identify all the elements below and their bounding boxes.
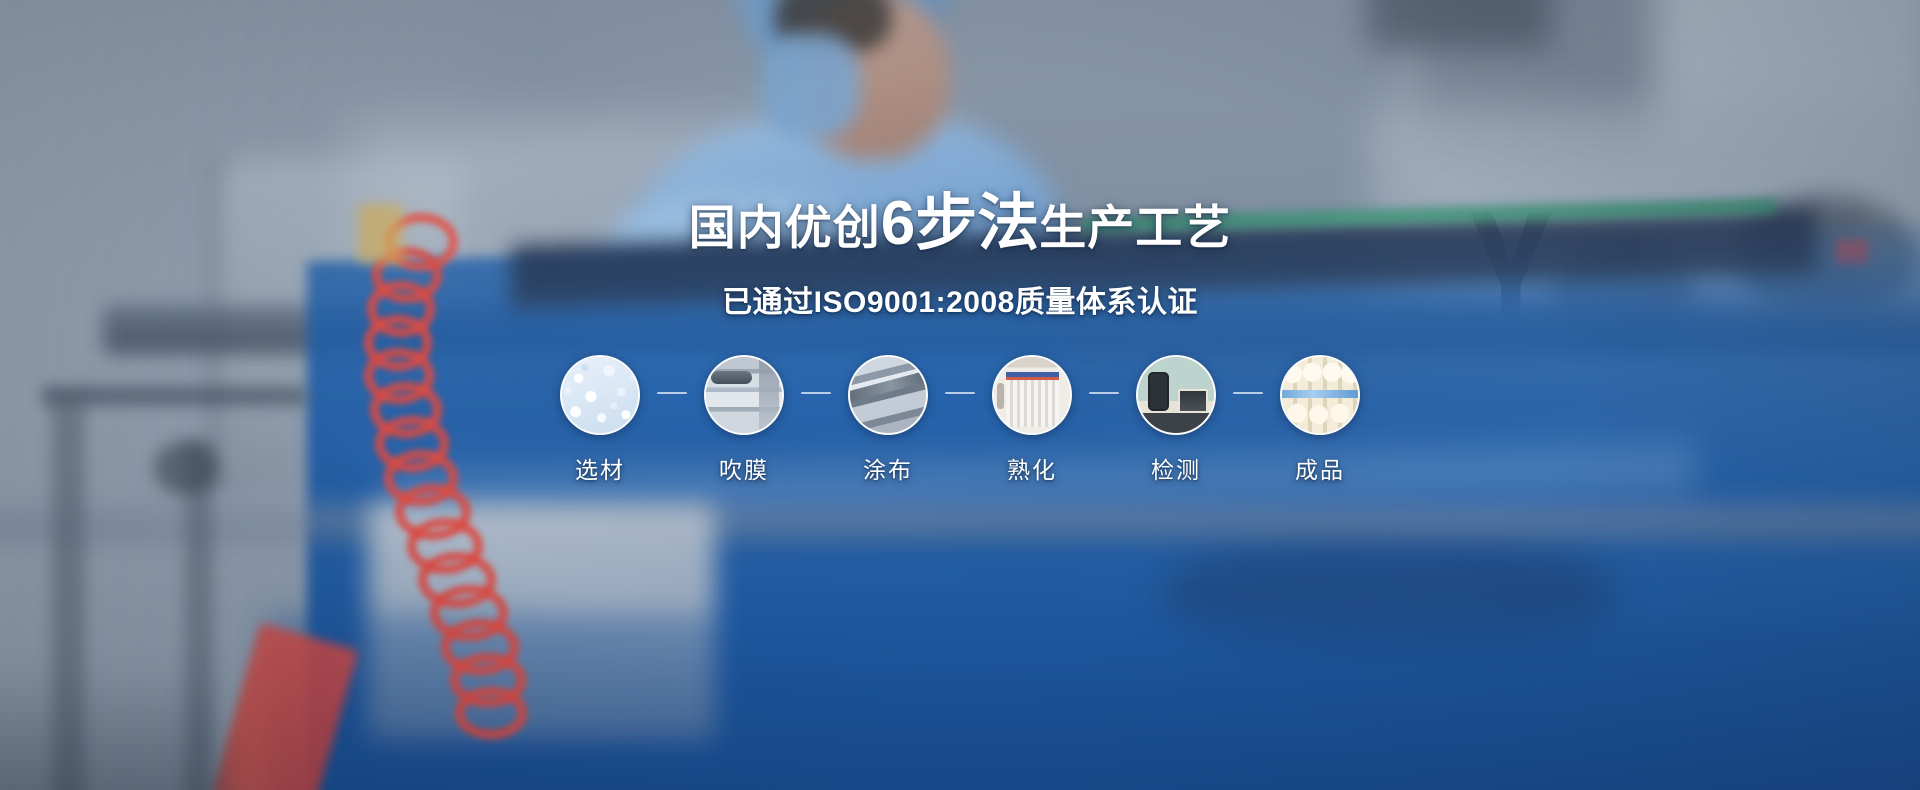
process-step-3-label: 涂布 [863,451,913,485]
finished-product-image [1282,357,1358,433]
step-connector-3 [938,355,982,431]
curing-room-thumb[interactable] [992,355,1072,435]
step-connector-1 [650,355,694,431]
pellets-image [562,357,638,433]
process-step-4-label: 熟化 [1007,451,1057,485]
headline-emphasis: 6步法 [881,189,1039,258]
process-step-3[interactable]: 涂布 [838,355,938,485]
headline-suffix: 生产工艺 [1039,201,1231,254]
coating-machine-thumb[interactable] [848,355,928,435]
process-step-1[interactable]: 选材 [550,355,650,485]
process-step-5-label: 检测 [1151,451,1201,485]
process-step-6[interactable]: 成品 [1270,355,1370,485]
process-step-2-label: 吹膜 [719,451,769,485]
step-connector-5 [1226,355,1270,431]
plastic-pellets-thumb[interactable] [560,355,640,435]
finished-film-rolls-thumb[interactable] [1280,355,1360,435]
process-steps: 选材 吹膜 涂布 熟化 [550,355,1370,485]
process-step-4[interactable]: 熟化 [982,355,1082,485]
banner-subheadline: 已通过ISO9001:2008质量体系认证 [722,277,1198,321]
process-step-5[interactable]: 检测 [1126,355,1226,485]
headline-prefix: 国内优创 [689,201,881,254]
step-connector-2 [794,355,838,431]
process-step-6-label: 成品 [1295,451,1345,485]
process-step-1-label: 选材 [575,451,625,485]
step-connector-4 [1082,355,1126,431]
banner-headline: 国内优创6步法生产工艺 [689,193,1231,255]
coating-image [850,357,926,433]
curing-image [994,357,1070,433]
testing-image [1138,357,1214,433]
banner-content: 国内优创6步法生产工艺 已通过ISO9001:2008质量体系认证 选材 吹膜 [0,0,1920,790]
film-blowing-image [706,357,782,433]
process-step-2[interactable]: 吹膜 [694,355,794,485]
film-blowing-machine-thumb[interactable] [704,355,784,435]
testing-equipment-thumb[interactable] [1136,355,1216,435]
production-process-banner: 国内优创6步法生产工艺 已通过ISO9001:2008质量体系认证 选材 吹膜 [0,0,1920,790]
